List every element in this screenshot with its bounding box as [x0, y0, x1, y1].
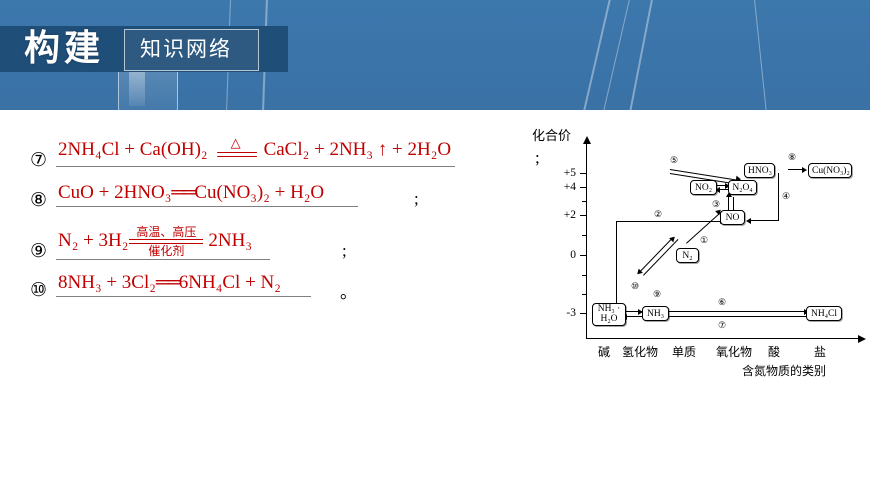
x-axis — [586, 338, 858, 339]
equation-left: N₂ + 3H₂ — [58, 230, 128, 251]
edge-arrow-4 — [746, 218, 751, 224]
x-tick-label: 氢化物 — [622, 343, 658, 360]
equation-item-10: ⑩ 8NH₃ + 3Cl₂══6NH₄Cl + N₂ 。 — [30, 270, 500, 300]
edge-label-3: ③ — [712, 199, 720, 210]
header-subtitle: 知识网络 — [140, 31, 232, 67]
header-light-streak — [628, 0, 654, 110]
equation-right: CaCl₂ + 2NH₃ ↑ + 2H₂O — [264, 139, 452, 160]
y-tick-label: +5 — [546, 167, 576, 179]
edge-line-10 — [638, 237, 674, 274]
equation-tail: ; — [342, 241, 347, 261]
reaction-arrow: ===== — [208, 148, 264, 164]
y-tick — [580, 187, 587, 188]
node-no2[interactable]: NO₂ — [690, 180, 717, 195]
reaction-arrow: ══ — [171, 182, 194, 203]
equation-condition: △===== — [208, 137, 264, 164]
header-light-streak — [753, 0, 767, 110]
x-axis-label: 含氮物质的类别 — [742, 362, 826, 379]
y-tick-minor — [582, 201, 587, 202]
edge-line-9 — [643, 239, 679, 276]
equation-left: 8NH₃ + 3Cl₂ — [58, 272, 156, 293]
condition-top: 高温、高压 — [129, 226, 203, 238]
x-tick-label: 氧化物 — [716, 343, 752, 360]
node-n2o4[interactable]: N₂O₄ — [728, 180, 757, 195]
node-hno3[interactable]: HNO₃ — [744, 163, 775, 178]
y-tick — [580, 215, 587, 216]
edge-label-10: ⑩ — [631, 281, 639, 292]
equation-left: CuO + 2HNO₃ — [58, 182, 171, 203]
y-tick-label: 0 — [546, 249, 576, 261]
edge-label-1: ① — [700, 235, 708, 246]
equation-body: 8NH₃ + 3Cl₂══6NH₄Cl + N₂ — [56, 272, 311, 297]
x-tick-label: 酸 — [768, 343, 780, 360]
equation-list: ⑦ 2NH₄Cl + Ca(OH)₂△=====CaCl₂ + 2NH₃ ↑ +… — [0, 118, 520, 348]
equation-condition: 高温、高压催化剂 — [129, 226, 203, 257]
x-tick-label: 单质 — [672, 343, 696, 360]
equation-body: N₂ + 3H₂高温、高压催化剂2NH₃ — [56, 226, 270, 260]
x-tick-label: 盐 — [814, 343, 826, 360]
equation-item-9: ⑨ N₂ + 3H₂高温、高压催化剂2NH₃ ; — [30, 218, 500, 262]
equation-tail: ; — [414, 189, 419, 209]
y-tick-label: -3 — [546, 307, 576, 319]
equation-right: Cu(NO₃)₂ + H₂O — [194, 182, 324, 203]
node-label-line2: H₂O — [600, 314, 617, 324]
x-tick-label: 碱 — [598, 343, 610, 360]
edge-line-4-v — [778, 173, 779, 221]
node-nh4cl[interactable]: NH₄Cl — [806, 306, 842, 321]
reaction-arrow: ══ — [156, 272, 179, 293]
edge-label-6: ⑥ — [718, 297, 726, 308]
y-axis-label: 化合价 — [532, 125, 571, 144]
y-tick-minor — [582, 294, 587, 295]
y-tick — [580, 313, 587, 314]
node-nh3-h2o[interactable]: NH₃ · H₂O — [592, 303, 626, 326]
y-tick-label: +4 — [546, 181, 576, 193]
edge-arrow-8 — [802, 167, 807, 173]
node-label-line1: NH₃ · — [598, 304, 621, 314]
node-nh3[interactable]: NH₃ — [642, 306, 669, 321]
edge-label-4: ④ — [782, 191, 790, 202]
edge-line-2-v — [616, 221, 617, 311]
y-tick-minor — [582, 235, 587, 236]
node-cu-no3-2[interactable]: Cu(NO₃)₂ — [808, 163, 852, 178]
equation-body: 2NH₄Cl + Ca(OH)₂△=====CaCl₂ + 2NH₃ ↑ + 2… — [56, 137, 455, 167]
condition-bottom: 催化剂 — [129, 245, 203, 257]
edge-label-9: ⑨ — [653, 289, 661, 300]
equation-right: 2NH₃ — [208, 230, 252, 251]
page-header: 构建 知识网络 — [0, 0, 870, 110]
nitrogen-valence-diagram: 化合价 +5 +4 +2 0 -3 碱 氢化物 单质 氧化物 酸 盐 含氮物质的… — [520, 125, 870, 375]
node-no[interactable]: NO — [720, 210, 745, 225]
y-tick-label: +2 — [546, 209, 576, 221]
equation-item-7: ⑦ 2NH₄Cl + Ca(OH)₂△=====CaCl₂ + 2NH₃ ↑ +… — [30, 136, 500, 170]
y-tick — [580, 255, 587, 256]
page-title: 构建 — [24, 26, 104, 72]
equation-number: ⑩ — [30, 279, 47, 302]
equation-item-8: ⑧ CuO + 2HNO₃══Cu(NO₃)₂ + H₂O ; — [30, 180, 500, 210]
edge-label-5: ⑤ — [670, 155, 678, 166]
edge-label-8: ⑧ — [788, 152, 796, 163]
equation-number: ⑨ — [30, 240, 47, 263]
edge-label-2: ② — [654, 209, 662, 220]
equation-number: ⑦ — [30, 149, 47, 172]
equation-number: ⑧ — [30, 189, 47, 212]
y-tick — [580, 173, 587, 174]
equation-tail: 。 — [340, 278, 357, 303]
equation-left: 2NH₄Cl + Ca(OH)₂ — [58, 139, 208, 160]
edge-label-7: ⑦ — [718, 320, 726, 331]
edge-line-4-h — [748, 220, 779, 221]
equation-right: 6NH₄Cl + N₂ — [179, 272, 281, 293]
y-tick-minor — [582, 275, 587, 276]
node-n2[interactable]: N₂ — [676, 248, 699, 263]
equation-body: CuO + 2HNO₃══Cu(NO₃)₂ + H₂O — [56, 182, 358, 207]
edge-line-2-h — [616, 221, 722, 222]
